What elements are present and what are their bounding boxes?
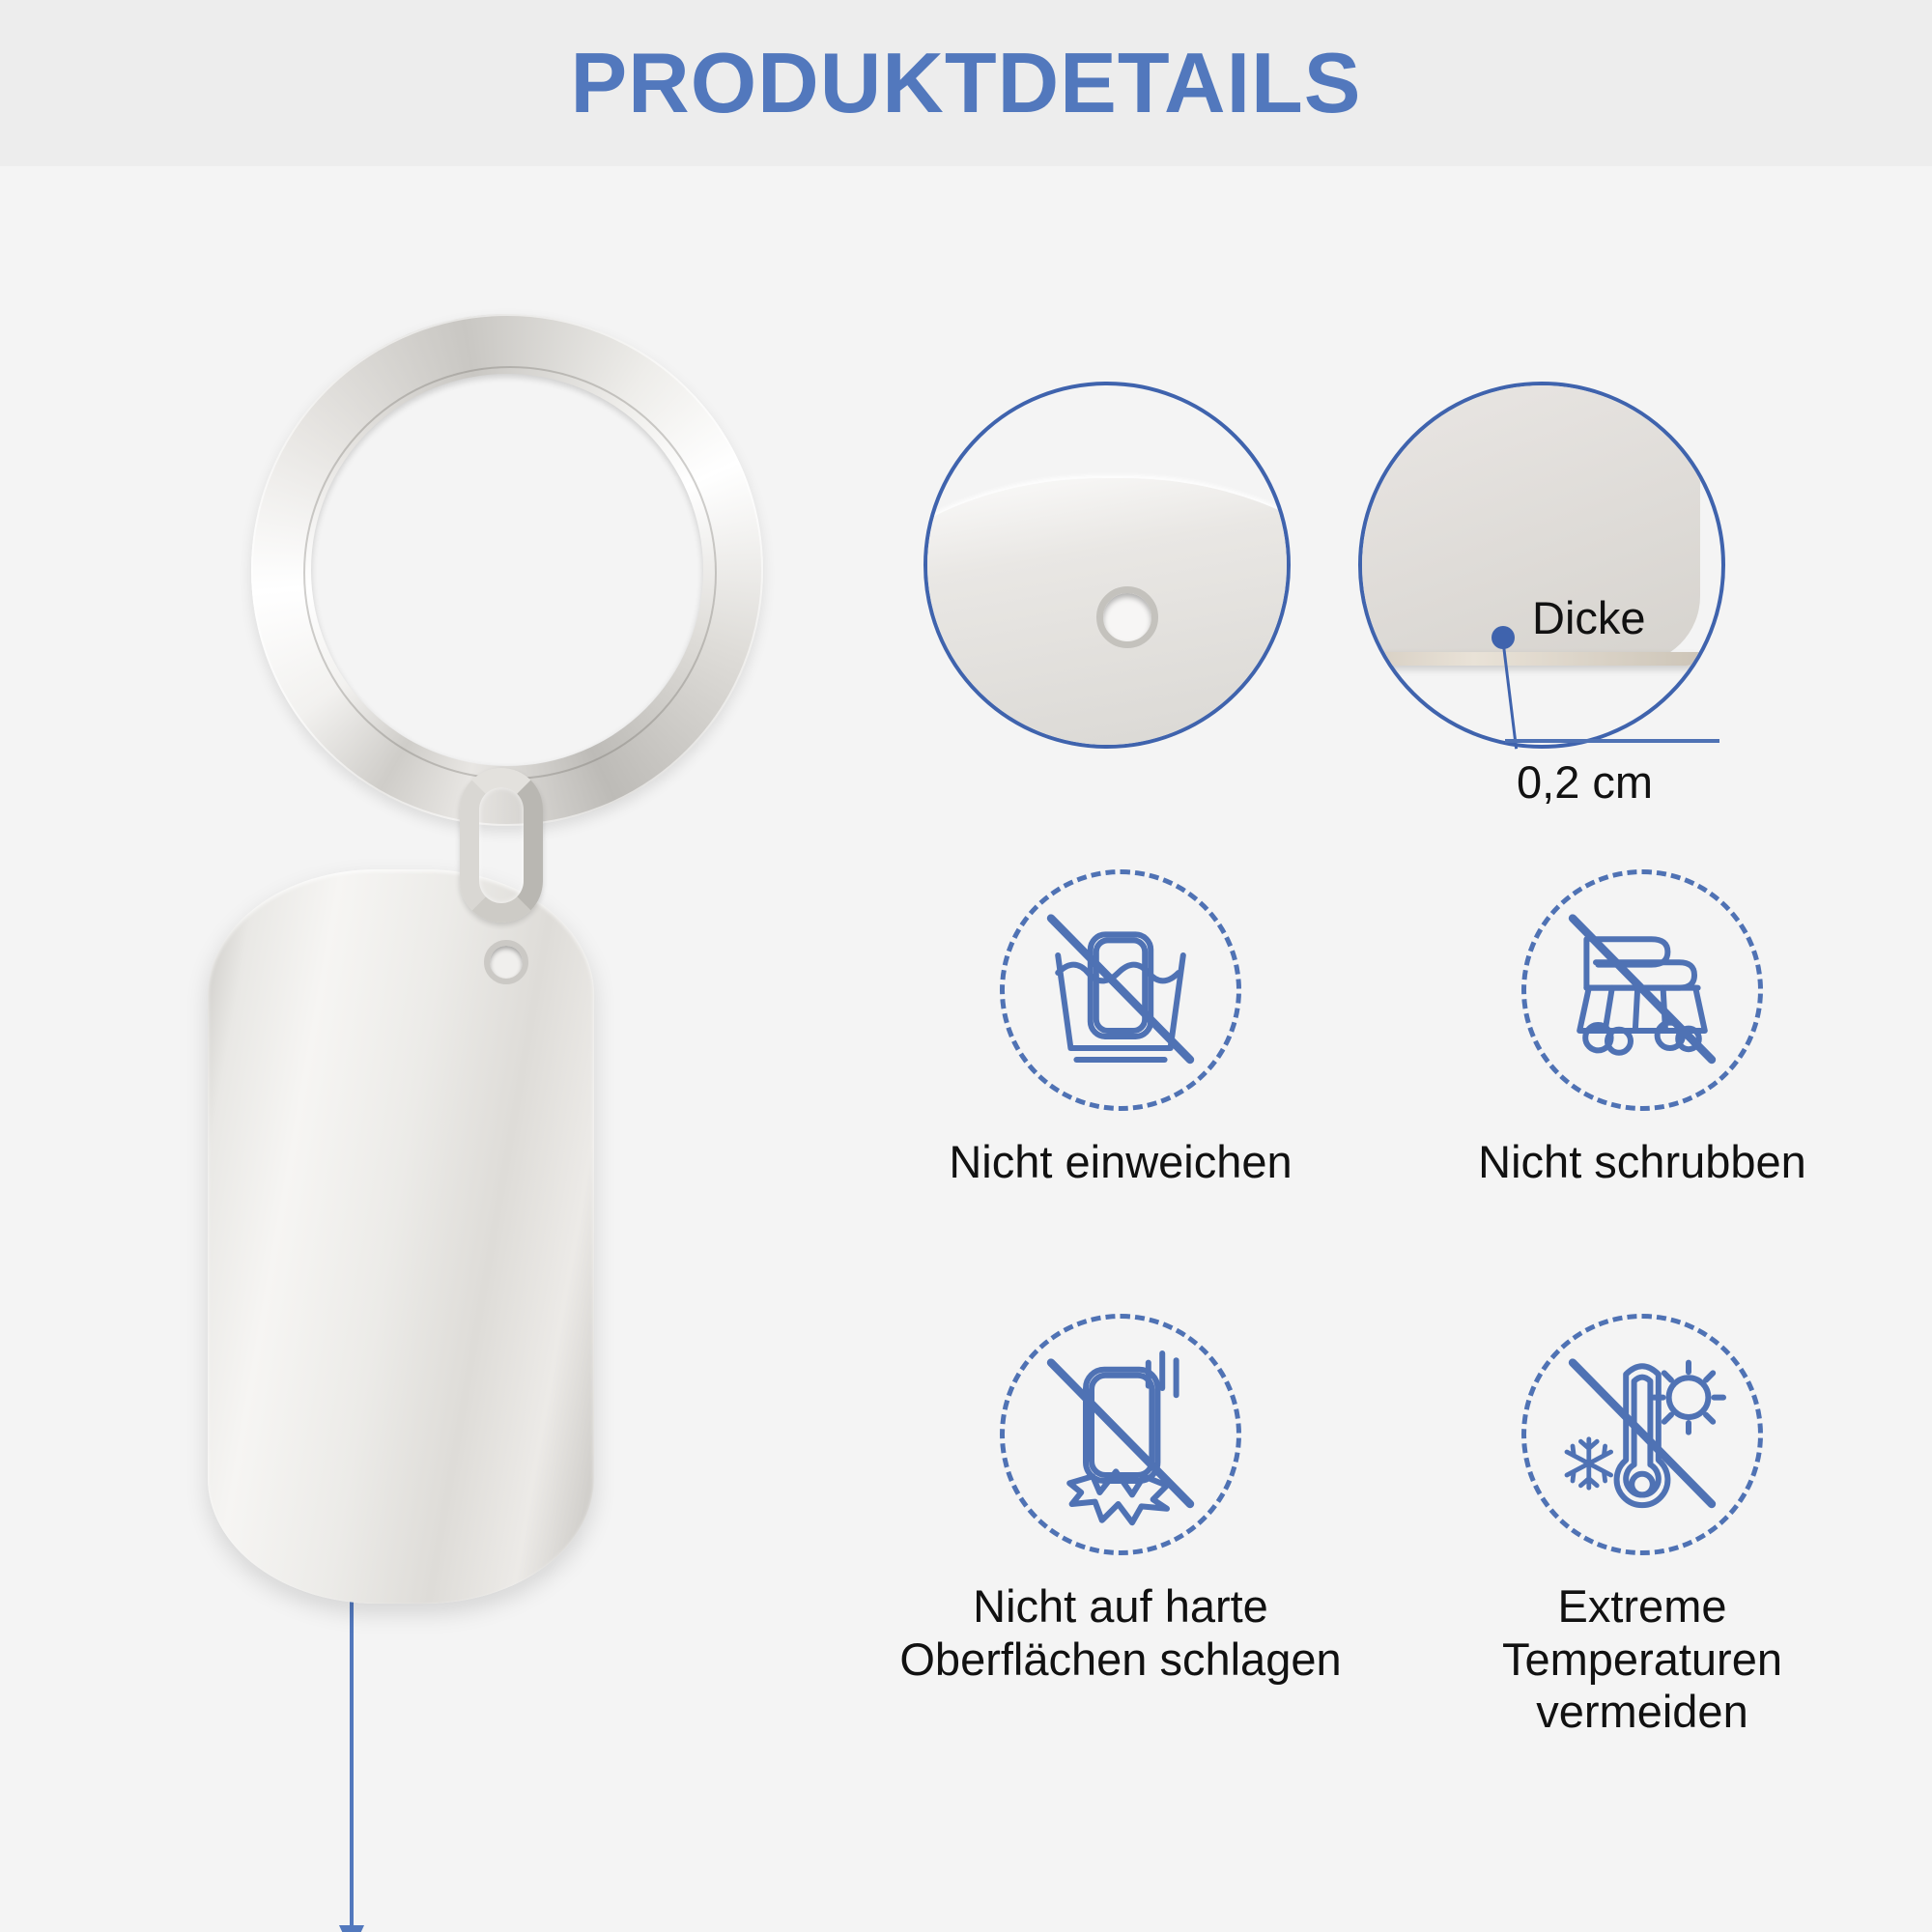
care-label: Nicht auf harteOberflächen schlagen [899, 1580, 1341, 1686]
detail-circle-thickness-closeup [1358, 382, 1725, 749]
no-scrubbing-icon [1526, 869, 1758, 1111]
thickness-anchor-dot [1492, 626, 1515, 649]
care-badge [1000, 869, 1241, 1111]
care-badge [1521, 869, 1763, 1111]
care-item-no-extreme-temperature: Extreme Temperaturenvermeiden [1391, 1314, 1893, 1739]
tag-corner-zoom [1358, 382, 1700, 664]
detail-circle-hole-closeup [923, 382, 1291, 749]
product-hero-image: 5,0 cm 2,8 cm [135, 290, 811, 1855]
care-label: Nicht einweichen [949, 1136, 1292, 1189]
care-instructions-grid: Nicht einweichen [869, 869, 1893, 1739]
tag-hole-zoom [1096, 586, 1158, 648]
jump-ring-connector [460, 768, 543, 923]
care-badge [1521, 1314, 1763, 1555]
care-label: Nicht schrubben [1478, 1136, 1806, 1189]
thickness-value: 0,2 cm [1517, 755, 1653, 809]
dog-tag-plate [208, 869, 594, 1604]
tag-edge-thickness-zoom [1358, 652, 1700, 666]
no-soaking-icon [1005, 869, 1236, 1111]
no-extreme-temp-icon [1526, 1314, 1758, 1555]
thickness-label: Dicke [1532, 591, 1646, 644]
page-title: PRODUKTDETAILS [0, 25, 1932, 141]
no-hard-impact-icon [1005, 1314, 1236, 1555]
care-label: Extreme Temperaturenvermeiden [1415, 1580, 1869, 1739]
product-details-page: PRODUKTDETAILS 5,0 cm 2,8 cm Dicke 0,2 c… [0, 0, 1932, 1932]
care-item-no-hard-impact: Nicht auf harteOberflächen schlagen [869, 1314, 1372, 1739]
split-key-ring [251, 314, 763, 826]
care-badge [1000, 1314, 1241, 1555]
care-item-no-scrubbing: Nicht schrubben [1391, 869, 1893, 1293]
thickness-rule-line [1505, 739, 1719, 743]
care-item-no-soaking: Nicht einweichen [869, 869, 1372, 1293]
dog-tag-hole [484, 940, 528, 984]
